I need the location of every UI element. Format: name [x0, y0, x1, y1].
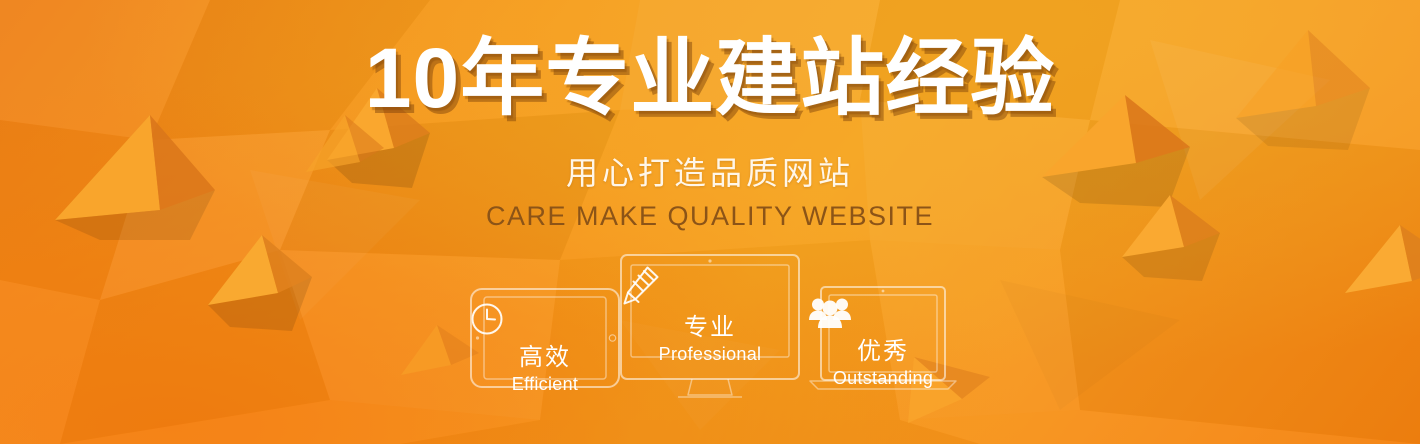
subtitle-chinese: 用心打造品质网站 — [0, 156, 1420, 191]
feature-card-group: 高效 Efficient — [0, 250, 1420, 420]
hero-banner: 10年专业建站经验 用心打造品质网站 CARE MAKE QUALITY WEB… — [0, 0, 1420, 444]
clock-icon — [470, 302, 620, 336]
feature-card-professional[interactable]: 专业 Professional — [620, 254, 800, 400]
page-title: 10年专业建站经验 — [0, 36, 1420, 120]
people-group-icon — [808, 296, 958, 330]
pencil-icon — [620, 264, 800, 308]
subtitle-english: CARE MAKE QUALITY WEBSITE — [0, 202, 1420, 232]
feature-card-efficient[interactable]: 高效 Efficient — [470, 288, 620, 388]
banner-content: 10年专业建站经验 用心打造品质网站 CARE MAKE QUALITY WEB… — [0, 0, 1420, 444]
feature-card-outstanding[interactable]: 优秀 Outstanding — [808, 286, 958, 396]
